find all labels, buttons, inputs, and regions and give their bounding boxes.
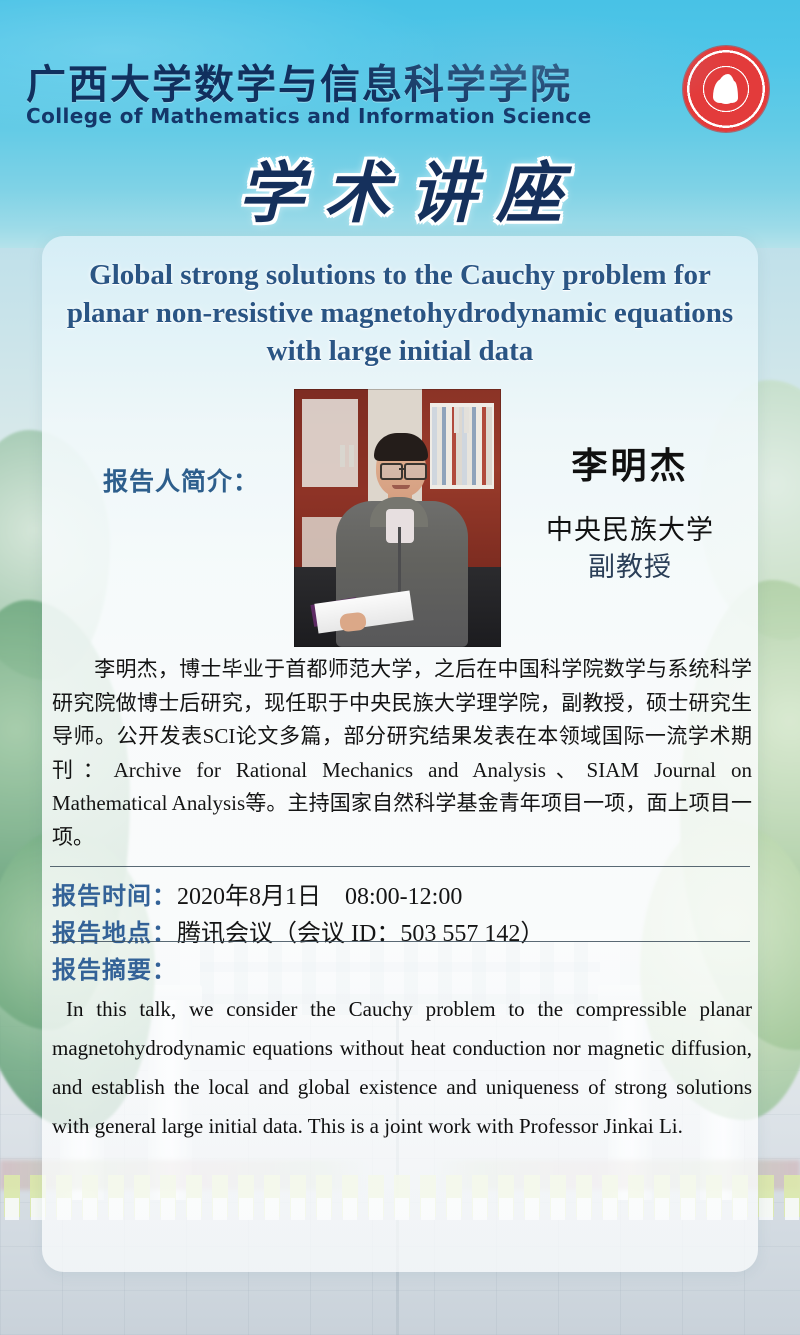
lecture-place-value: 腾讯会议（会议 ID：503 557 142）	[177, 921, 544, 947]
divider-above-abstract	[50, 941, 750, 942]
speaker-rank: 副教授	[500, 545, 760, 584]
seal-inner-disc	[704, 67, 748, 111]
seal-flame-icon	[716, 74, 736, 104]
speaker-name: 李明杰	[500, 437, 760, 489]
lecture-time-value: 2020年8月1日 08:00-12:00	[177, 884, 462, 910]
banner-title-wrap: 学术讲座	[0, 140, 800, 236]
lecture-place-row: 报告地点：腾讯会议（会议 ID：503 557 142）	[52, 913, 544, 948]
guangxi-university-seal-icon	[683, 46, 769, 132]
abstract-text: In this talk, we consider the Cauchy pro…	[52, 997, 752, 1138]
lecture-poster: 广西大学数学与信息科学学院 College of Mathematics and…	[0, 0, 800, 1335]
university-name-en: College of Mathematics and Information S…	[26, 104, 592, 128]
divider-above-time	[50, 866, 750, 867]
abstract-label: 报告摘要：	[52, 950, 177, 985]
speaker-photo-frame	[294, 389, 501, 647]
bio-text: 李明杰，博士毕业于首都师范大学，之后在中国科学院数学与系统科学研究院做博士后研究…	[52, 657, 752, 849]
lecture-time-row: 报告时间：2020年8月1日 08:00-12:00	[52, 876, 462, 911]
talk-title: Global strong solutions to the Cauchy pr…	[50, 256, 750, 370]
lecture-time-label: 报告时间：	[52, 882, 177, 910]
speaker-bio: 李明杰，博士毕业于首都师范大学，之后在中国科学院数学与系统科学研究院做博士后研究…	[52, 653, 752, 854]
lecture-place-label: 报告地点：	[52, 919, 177, 947]
speaker-section-label: 报告人简介：	[103, 462, 259, 498]
poster-header: 广西大学数学与信息科学学院 College of Mathematics and…	[0, 0, 800, 248]
speaker-organization: 中央民族大学	[500, 508, 760, 547]
university-name-cn: 广西大学数学与信息科学学院	[26, 52, 572, 110]
banner-title: 学术讲座	[218, 140, 582, 236]
abstract-body: In this talk, we consider the Cauchy pro…	[52, 990, 752, 1146]
